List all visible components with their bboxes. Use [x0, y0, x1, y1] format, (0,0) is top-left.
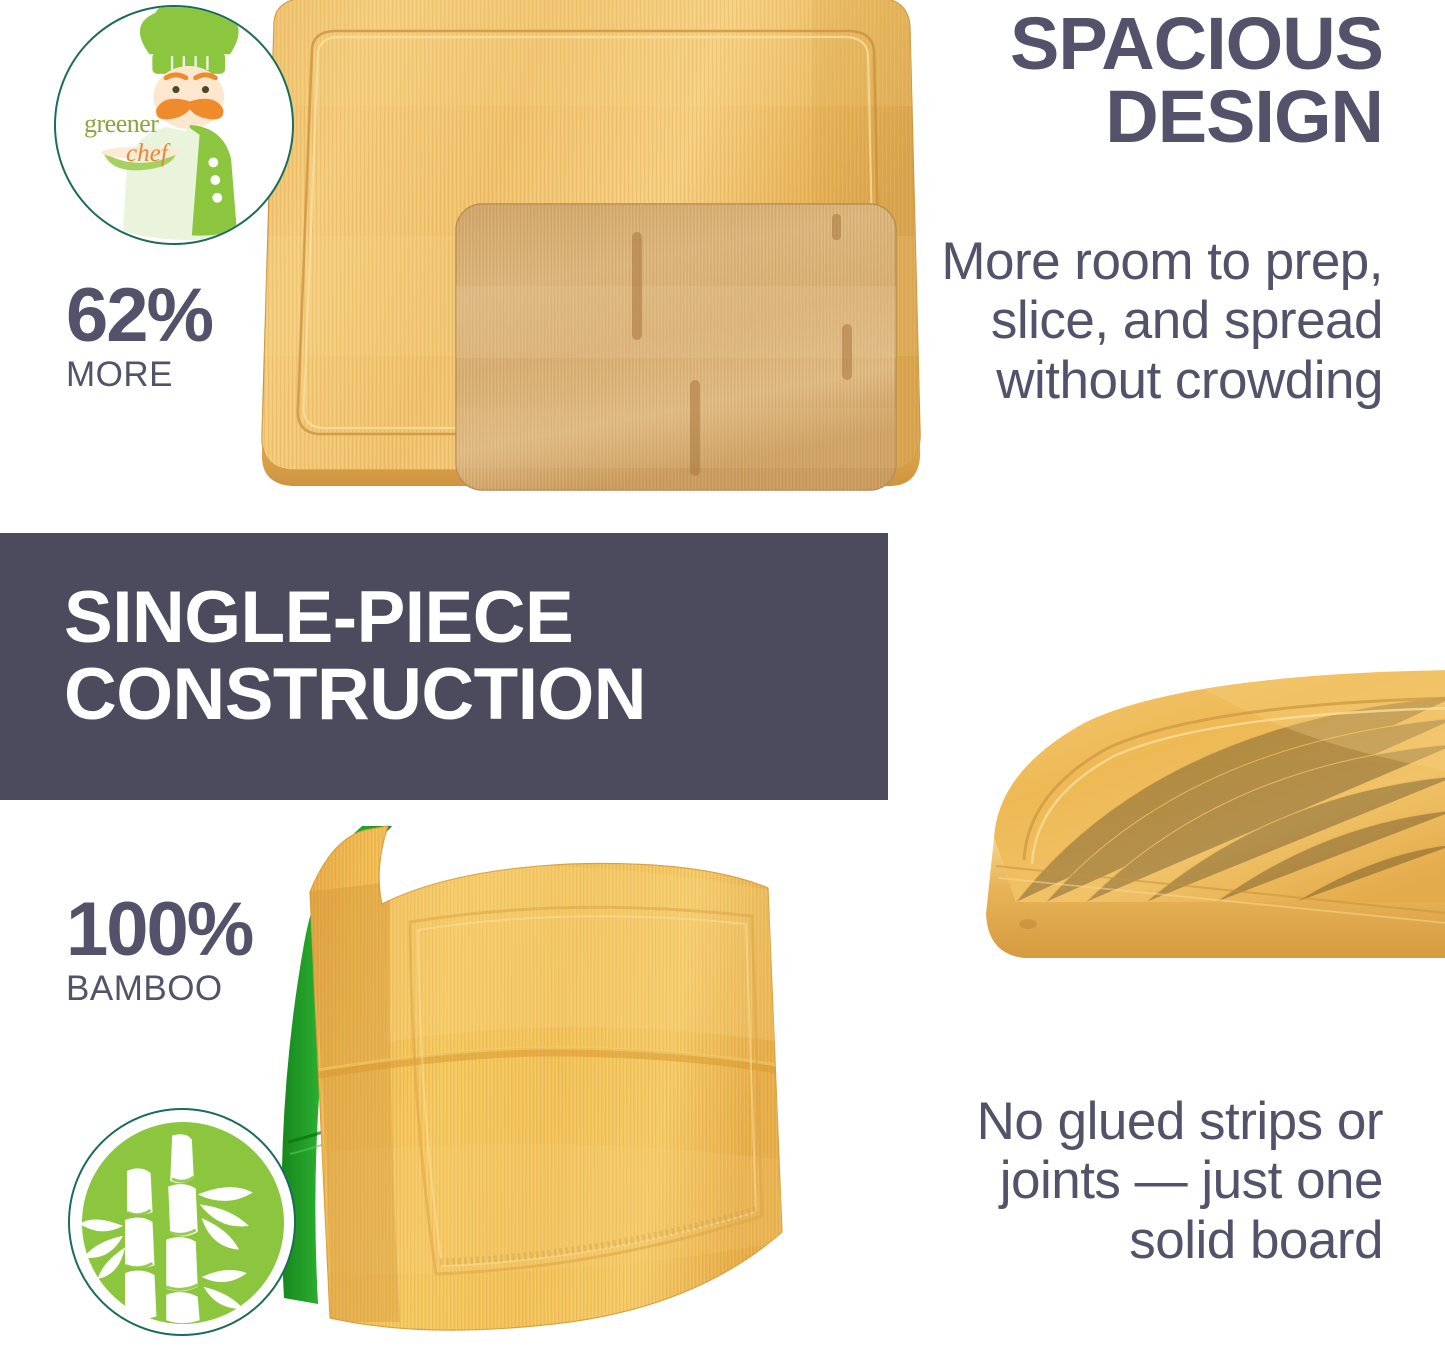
single-piece-construction-banner: SINGLE-PIECE CONSTRUCTION [0, 533, 888, 800]
stat-value-100-percent: 100% [66, 895, 316, 965]
stat-label-more: MORE [66, 357, 296, 394]
logo-word-greener: greener [84, 111, 210, 137]
stat-label-bamboo: BAMBOO [66, 971, 316, 1008]
logo-wordmark: greener chef [84, 111, 210, 181]
banner-title: SINGLE-PIECE CONSTRUCTION [64, 579, 874, 734]
bamboo-board-corner-closeup [856, 652, 1445, 1042]
bamboo-badge [68, 1108, 296, 1336]
body-single-piece-construction: No glued strips or joints — just one sol… [963, 1092, 1383, 1270]
stat-spacious: 62% MORE [66, 281, 296, 394]
logo-word-chef: chef [126, 141, 210, 166]
small-cutting-board-overlay [452, 198, 902, 498]
body-spacious-design: More room to prep, slice, and spread wit… [903, 232, 1383, 410]
infographic-canvas: greener chef 62% MORE SPACIOUS DESIGN Mo… [0, 0, 1445, 1362]
stat-bamboo: 100% BAMBOO [66, 895, 316, 1008]
bamboo-stalks-icon [70, 1110, 294, 1334]
headline-spacious-design: SPACIOUS DESIGN [863, 8, 1383, 153]
greener-chef-logo: greener chef [54, 5, 294, 245]
section-spacious-design: greener chef 62% MORE SPACIOUS DESIGN Mo… [0, 0, 1445, 533]
stat-value-62-percent: 62% [66, 281, 296, 351]
curved-bamboo-board-with-green-stalk-edge [270, 812, 810, 1362]
